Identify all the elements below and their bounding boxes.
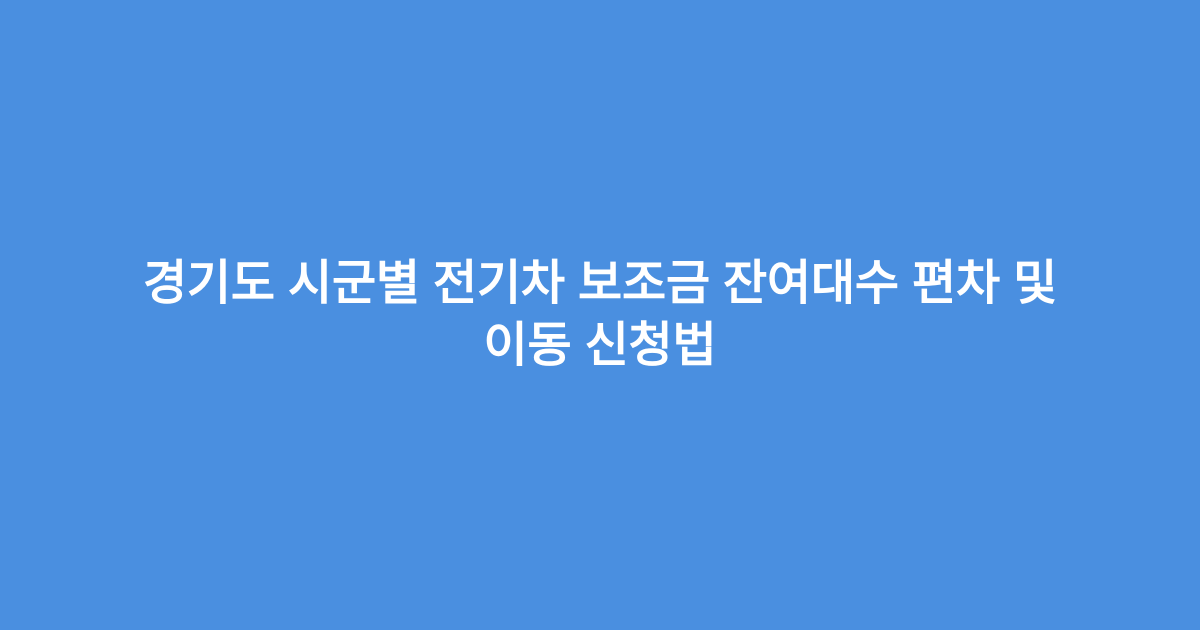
page-title: 경기도 시군별 전기차 보조금 잔여대수 편차 및 이동 신청법 [95, 253, 1105, 378]
title-card: 경기도 시군별 전기차 보조금 잔여대수 편차 및 이동 신청법 [0, 0, 1200, 630]
title-block: 경기도 시군별 전기차 보조금 잔여대수 편차 및 이동 신청법 [95, 253, 1105, 378]
